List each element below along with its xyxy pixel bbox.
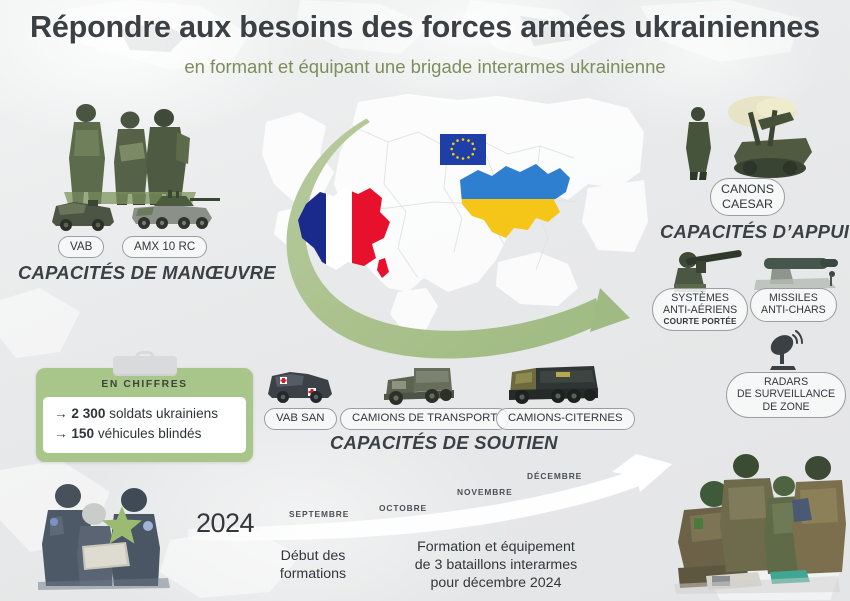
- pill-line-1: MISSILES: [769, 292, 818, 304]
- figure-value-soldats: 2 300: [71, 406, 105, 421]
- figure-line-vehicules: → 150 véhicules blindés: [54, 424, 235, 444]
- figure-line-soldats: → 2 300 soldats ukrainiens: [54, 404, 235, 424]
- timeline-year: 2024: [196, 508, 254, 539]
- pill-camions-citernes: CAMIONS-CITERNES: [496, 408, 635, 430]
- pill-camions-transport: CAMIONS DE TRANSPORT: [340, 408, 509, 430]
- timeline-star-marker: [102, 506, 142, 544]
- radar-icon: [762, 330, 808, 372]
- arrow-icon: →: [54, 426, 68, 441]
- clipboard-clip-icon: [113, 356, 177, 376]
- label-camions-citernes: CAMIONS-CITERNES: [496, 408, 635, 430]
- vab-san-photo: [264, 364, 336, 406]
- label-radars: RADARS DE SURVEILLANCE DE ZONE: [726, 372, 846, 418]
- timeline-month-octobre: OCTOBRE: [379, 503, 427, 513]
- pill-line-2: ANTI-CHARS: [761, 304, 826, 316]
- timeline-outcome-label: Formation et équipement de 3 bataillons …: [406, 538, 586, 593]
- pill-vab-san: VAB SAN: [264, 408, 337, 430]
- page-subtitle: en formant et équipant une brigade inter…: [0, 56, 850, 78]
- pill-line-2: ANTI-AÉRIENS: [663, 304, 737, 316]
- label-vab-san: VAB SAN: [264, 408, 337, 430]
- figure-text-vehicules: véhicules blindés: [94, 426, 201, 441]
- pill-vab: VAB: [58, 236, 104, 258]
- figure-value-vehicules: 150: [71, 426, 94, 441]
- pill-line-2: CAESAR: [722, 197, 773, 211]
- figures-card: EN CHIFFRES → 2 300 soldats ukrainiens →…: [36, 368, 253, 462]
- vab-vehicle-photo: [48, 192, 118, 234]
- infographic-page: Répondre aux besoins des forces armées u…: [0, 0, 850, 601]
- tanker-truck-photo: [506, 360, 602, 406]
- arrow-icon: →: [54, 406, 68, 421]
- figure-text-soldats: soldats ukrainiens: [105, 406, 218, 421]
- canon-caesar-photo: [666, 94, 826, 180]
- pill-line-3: DE ZONE: [763, 401, 810, 413]
- europe-map-group: Avec les partenaires: [248, 92, 648, 362]
- label-camions-transport: CAMIONS DE TRANSPORT: [340, 408, 509, 430]
- pill-line-1: CANONS: [721, 182, 774, 196]
- label-systemes-anti-aeriens: SYSTÈMES ANTI-AÉRIENS COURTE PORTÉE: [652, 288, 748, 331]
- pill-missiles-anti-chars: MISSILES ANTI-CHARS: [750, 288, 837, 322]
- label-missiles-anti-chars: MISSILES ANTI-CHARS: [750, 288, 837, 322]
- mistral-launcher-photo: [660, 248, 746, 292]
- figures-caption: EN CHIFFRES: [43, 379, 246, 390]
- amx10rc-vehicle-photo: [128, 182, 224, 234]
- pill-line-sub: COURTE PORTÉE: [663, 317, 737, 327]
- figures-card-body: EN CHIFFRES → 2 300 soldats ukrainiens →…: [36, 368, 253, 462]
- pill-line-1: RADARS: [764, 376, 808, 388]
- pill-line-1: SYSTÈMES: [671, 292, 729, 304]
- pill-systemes-anti-aeriens: SYSTÈMES ANTI-AÉRIENS COURTE PORTÉE: [652, 288, 748, 331]
- missile-launcher-photo: [750, 250, 844, 292]
- timeline-month-decembre: DÉCEMBRE: [527, 471, 582, 481]
- pill-amx10rc: AMX 10 RC: [122, 236, 207, 258]
- pill-radars: RADARS DE SURVEILLANCE DE ZONE: [726, 372, 846, 418]
- timeline-milestone-label: Début des formations: [258, 547, 368, 583]
- pill-canons-caesar: CANONS CAESAR: [710, 178, 785, 216]
- page-title: Répondre aux besoins des forces armées u…: [0, 10, 850, 45]
- pill-line-2: DE SURVEILLANCE: [737, 388, 835, 400]
- label-canons-caesar: CANONS CAESAR: [710, 178, 785, 216]
- label-amx10rc: AMX 10 RC: [122, 236, 207, 258]
- transport-truck-photo: [380, 362, 458, 406]
- section-title-manoeuvre: CAPACITÉS DE MANŒUVRE: [18, 262, 276, 284]
- label-vab: VAB: [58, 236, 104, 258]
- timeline-month-novembre: NOVEMBRE: [457, 487, 513, 497]
- arc-arrowhead: [590, 288, 630, 332]
- eu-flag: [440, 134, 486, 165]
- section-title-appui: CAPACITÉS D’APPUI: [660, 221, 849, 243]
- timeline-month-septembre: SEPTEMBRE: [289, 509, 349, 519]
- figures-inner: → 2 300 soldats ukrainiens → 150 véhicul…: [43, 397, 246, 453]
